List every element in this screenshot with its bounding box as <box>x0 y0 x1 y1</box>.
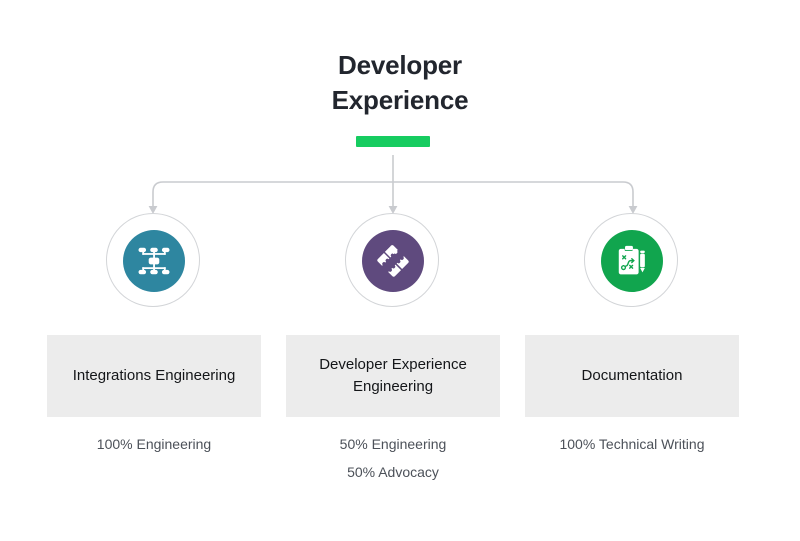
branch-note: 100% Engineering <box>47 430 261 458</box>
branch-notes-integrations-engineering: 100% Engineering <box>47 430 261 458</box>
org-chart-diagram: Developer Experience <box>0 0 800 541</box>
branch-card-developer-experience-engineering[interactable]: Developer Experience Engineering <box>286 335 500 417</box>
branch-node-developer-experience-engineering[interactable] <box>345 213 441 309</box>
network-nodes-icon <box>137 244 171 278</box>
branch-card-label: Developer Experience Engineering <box>296 354 490 398</box>
branch-nodes-row <box>0 213 800 313</box>
node-disc <box>123 230 185 292</box>
branch-card-documentation[interactable]: Documentation <box>525 335 739 417</box>
branch-card-label: Documentation <box>582 365 683 387</box>
branch-card-label: Integrations Engineering <box>73 365 236 387</box>
branch-note: 100% Technical Writing <box>525 430 739 458</box>
branch-node-documentation[interactable] <box>584 213 680 309</box>
branch-notes-developer-experience-engineering: 50% Engineering 50% Advocacy <box>286 430 500 486</box>
branch-note: 50% Advocacy <box>286 458 500 486</box>
node-disc <box>601 230 663 292</box>
branch-card-integrations-engineering[interactable]: Integrations Engineering <box>47 335 261 417</box>
branch-notes-documentation: 100% Technical Writing <box>525 430 739 458</box>
page-title-line-2: Experience <box>0 83 800 118</box>
branch-note: 50% Engineering <box>286 430 500 458</box>
clipboard-strategy-pencil-icon <box>615 244 649 278</box>
branch-node-integrations-engineering[interactable] <box>106 213 202 309</box>
page-title-line-1: Developer <box>0 48 800 83</box>
node-disc <box>362 230 424 292</box>
page-title: Developer Experience <box>0 48 800 118</box>
puzzle-pieces-icon <box>376 244 410 278</box>
title-accent-bar <box>356 136 430 147</box>
